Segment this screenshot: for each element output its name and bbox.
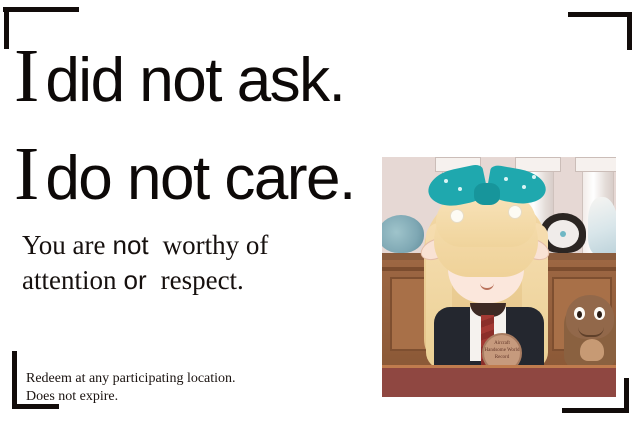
wall-clock-center (560, 231, 566, 237)
subheadline-part-1: You are (22, 230, 106, 260)
flower-hairpin-icon (508, 205, 522, 219)
star-icon (504, 177, 508, 181)
corner-bracket-top-left (3, 7, 79, 12)
frog-hands (580, 339, 604, 361)
flower-arrangement-icon (588, 197, 616, 255)
headline-line-2-rest: do not care. (45, 144, 354, 213)
subheadline-part-4: respect. (161, 265, 244, 295)
headline-line-1-lead: I (14, 34, 38, 118)
frog-pupil (597, 311, 602, 318)
star-icon (522, 185, 526, 189)
headline-line-1: Idid not ask. (14, 38, 344, 114)
flower-hairpin-icon (450, 209, 464, 223)
frog-pupil (577, 311, 582, 318)
potted-plant-icon (382, 215, 424, 253)
corner-bracket-top-right (568, 12, 632, 17)
courtroom-desk (382, 365, 616, 397)
headline-line-2: Ido not care. (14, 136, 355, 212)
subheadline: You arenotworthy of attentionorrespect. (22, 228, 372, 297)
hair-bow-knot (474, 183, 500, 205)
subheadline-emphasis-not: not (113, 230, 149, 260)
corner-bracket-top-left (4, 7, 9, 49)
star-icon (458, 187, 462, 191)
subheadline-part-2: worthy of (163, 230, 269, 260)
character-photo: Aircraft Handsome World Record (382, 157, 616, 397)
star-icon (444, 179, 448, 183)
poster-canvas: Idid not ask. Ido not care. You arenotwo… (0, 0, 640, 426)
subheadline-part-3: attention (22, 265, 116, 295)
corner-bracket-bottom-right (562, 408, 629, 413)
star-icon (532, 175, 536, 179)
corner-bracket-bottom-left (12, 351, 17, 409)
subheadline-emphasis-or: or (123, 265, 146, 295)
headline-line-1-rest: did not ask. (45, 46, 344, 115)
fineprint-text: Redeem at any participating location. Do… (26, 370, 236, 406)
pillar-capital-icon (575, 157, 616, 172)
headline-line-2-lead: I (14, 132, 38, 216)
corner-bracket-top-right (627, 12, 632, 50)
